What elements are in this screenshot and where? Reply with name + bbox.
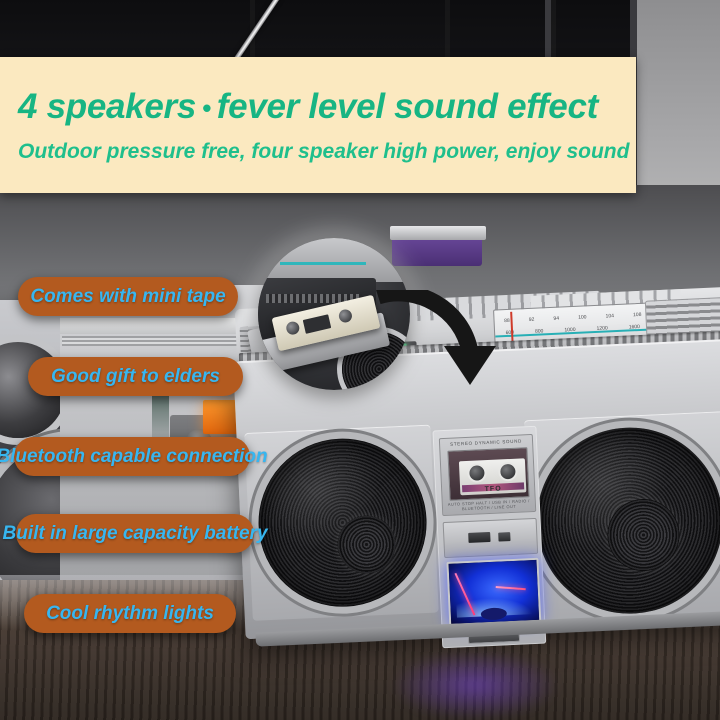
feature-pill-label: Built in large capacity battery (2, 524, 267, 543)
feature-pill-mini-tape[interactable]: Comes with mini tape (18, 277, 238, 316)
magnifier-dial-line (280, 262, 366, 265)
magnifier-top-panel (258, 238, 410, 282)
tuner-tick: 104 (605, 313, 614, 319)
feature-pill-gift[interactable]: Good gift to elders (28, 357, 243, 396)
feature-pill-rhythm-lights[interactable]: Cool rhythm lights (24, 594, 236, 633)
headline-part-1: 4 speakers (18, 87, 196, 126)
feature-pill-bluetooth[interactable]: Bluetooth capable connection (14, 437, 250, 476)
banner-headline: 4 speakers•fever level sound effect (18, 89, 636, 124)
sd-card-slot[interactable] (498, 532, 510, 542)
feature-pill-battery[interactable]: Built in large capacity battery (16, 514, 254, 553)
tape-hub-right (338, 308, 354, 324)
usb-port[interactable] (468, 532, 490, 543)
floor-purple-glow (390, 650, 560, 720)
tuner-tick: 92 (529, 317, 535, 323)
headline-bullet-icon: • (196, 93, 217, 123)
center-control-stack: STEREO DYNAMIC SOUND TFO AUTO STOP HALT … (432, 426, 546, 648)
banner-subhead: Outdoor pressure free, four speaker high… (18, 141, 636, 162)
cassette-reel-right (500, 464, 516, 480)
product-marketing-image: 88 92 94 100 104 108 MHz 600 800 1000 12… (0, 0, 720, 720)
right-speaker-dome (606, 497, 681, 572)
deck-top-label: STEREO DYNAMIC SOUND (440, 438, 532, 447)
cassette-reel-left (469, 465, 485, 481)
tuner-tick: 100 (578, 314, 587, 320)
rhythm-light-window (446, 558, 541, 626)
pointer-arrow-icon (370, 290, 520, 385)
feature-pill-label: Cool rhythm lights (46, 604, 214, 623)
port-strip[interactable] (443, 518, 539, 558)
tuner-tick: 108 (633, 312, 642, 318)
cassette-tape: TFO (459, 458, 526, 495)
feature-pill-label: Good gift to elders (51, 367, 220, 386)
header-banner: 4 speakers•fever level sound effect Outd… (0, 57, 636, 193)
left-speaker-dome (336, 514, 397, 575)
tape-hub-left (285, 320, 301, 336)
feature-pill-label: Comes with mini tape (30, 287, 225, 306)
tuner-tick: 94 (553, 316, 559, 322)
headline-part-2: fever level sound effect (217, 87, 598, 126)
cassette-deck[interactable]: STEREO DYNAMIC SOUND TFO AUTO STOP HALT … (439, 434, 536, 516)
feature-pill-label: Bluetooth capable connection (0, 447, 268, 466)
tape-window (303, 314, 331, 333)
cassette-window: TFO (447, 447, 529, 501)
